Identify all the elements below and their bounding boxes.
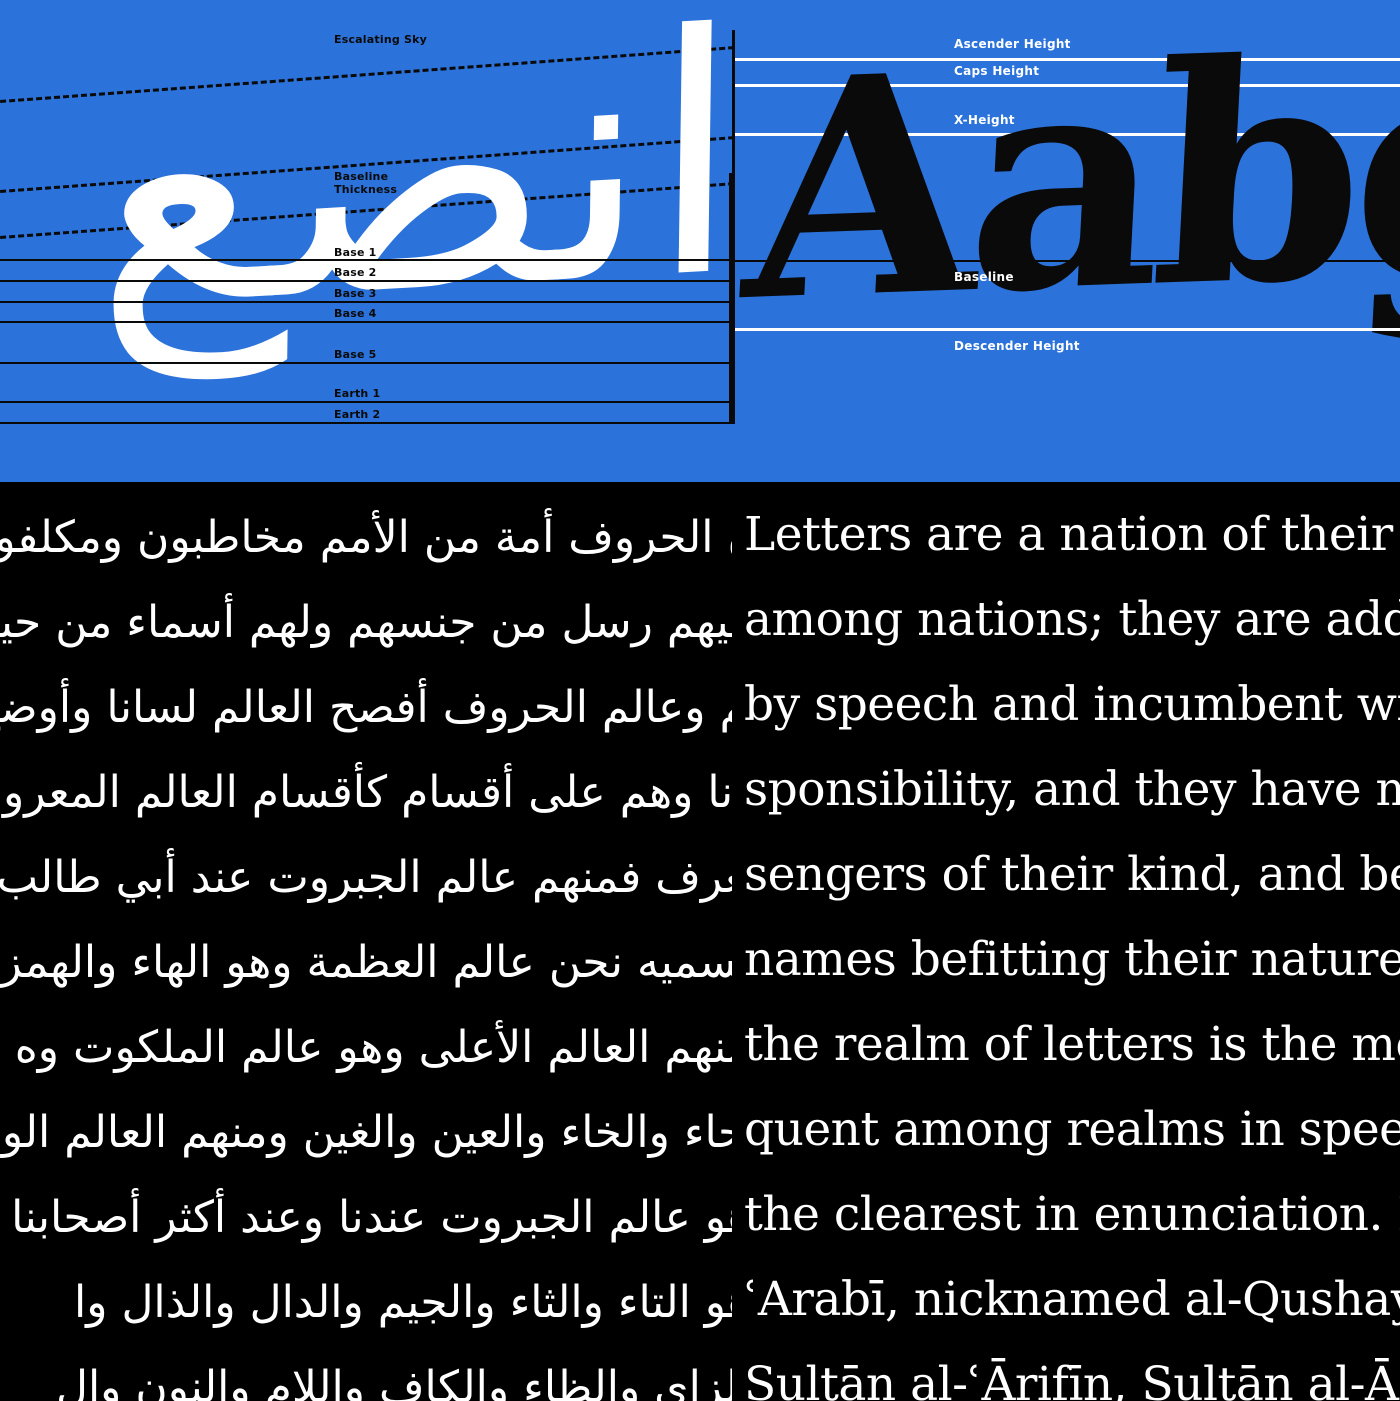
base-rule-5 <box>0 362 732 364</box>
panel-divider <box>732 30 735 424</box>
latin-text-line: sponsibility, and they have me <box>744 762 1400 817</box>
arabic-text-line: وهو عالم الجبروت عندنا وعند أكثر أصحابنا <box>0 1192 732 1243</box>
label-ascender-height: Ascender Height <box>954 37 1071 51</box>
baseline-rule <box>735 260 1400 262</box>
label-base-1: Base 1 <box>334 246 377 259</box>
arabic-text-line: الحاء والخاء والعين والغين ومنهم العالم … <box>0 1107 732 1158</box>
latin-text-line: Sulṭān al-ʿĀrifīn, Sulṭān al-Āri <box>744 1357 1400 1401</box>
label-escalating-sky: Escalating Sky <box>334 33 427 46</box>
base-rule-2 <box>0 280 732 282</box>
base-rule-3 <box>0 301 732 303</box>
label-baseline-thickness-line2: Thickness <box>334 183 397 196</box>
earth-rule-1 <box>0 401 732 403</box>
latin-text-line: among nations; they are addr <box>744 592 1400 647</box>
label-baseline-thickness-line1: Baseline <box>334 170 397 183</box>
earth-rule-2 <box>0 422 732 424</box>
latin-text-line: the clearest in enunciation. Ib <box>744 1187 1400 1242</box>
label-earth-1: Earth 1 <box>334 387 380 400</box>
arabic-text-line: هم وعالم الحروف أفصح العالم لسانا وأوضح <box>0 682 732 733</box>
arabic-text-line: والزاي والظاء والكاف واللام والنون وال <box>0 1362 732 1401</box>
label-descender-height: Descender Height <box>954 339 1080 353</box>
base-rule-4 <box>0 321 732 323</box>
latin-metrics-panel: Aabg Ascender Height Caps Height X-Heigh… <box>732 0 1400 482</box>
latin-text-line: ʿArabī, nicknamed al-Qushayr <box>744 1272 1400 1327</box>
latin-text-line: quent among realms in speech <box>744 1102 1400 1157</box>
latin-text-line: by speech and incumbent with <box>744 677 1400 732</box>
label-caps-height: Caps Height <box>954 64 1039 78</box>
label-baseline: Baseline <box>954 270 1014 284</box>
label-baseline-thickness: Baseline Thickness <box>334 170 397 196</box>
specimen-panel: انصع Escalating Sky Baseline Thickness B… <box>0 0 1400 482</box>
latin-text-line: sengers of their kind, and bea <box>744 847 1400 902</box>
label-earth-2: Earth 2 <box>334 408 380 421</box>
base-rule-1 <box>0 259 732 261</box>
arabic-text-line: وهو التاء والثاء والجيم والدال والذال وا <box>0 1277 732 1328</box>
label-base-3: Base 3 <box>334 287 377 300</box>
label-x-height: X-Height <box>954 113 1015 127</box>
arabic-text-line: ومنهم العالم الأعلى وهو عالم الملكوت وه <box>0 1022 732 1073</box>
arabic-text-line: العرف فمنهم عالم الجبروت عند أبي طالب ا <box>0 852 732 903</box>
typography-specimen-page: انصع Escalating Sky Baseline Thickness B… <box>0 0 1400 1401</box>
latin-text-line: Letters are a nation of their ow <box>744 507 1400 562</box>
arabic-metrics-panel: انصع Escalating Sky Baseline Thickness B… <box>0 0 732 482</box>
arabic-text-line: بيانا وهم على أقسام كأقسام العالم المعرو… <box>0 767 732 818</box>
latin-text-column: Letters are a nation of their ow among n… <box>744 482 1400 1401</box>
arabic-text-line: أن الحروف أمة من الأمم مخاطبون ومكلفون <box>0 512 732 563</box>
arabic-text-line: وفيهم رسل من جنسهم ولهم أسماء من حيث <box>0 597 732 648</box>
latin-text-line: the realm of letters is the mos <box>744 1017 1400 1072</box>
descender-height-rule <box>735 328 1400 331</box>
label-base-4: Base 4 <box>334 307 377 320</box>
specimen-text-block: أن الحروف أمة من الأمم مخاطبون ومكلفون و… <box>0 482 1400 1401</box>
label-base-5: Base 5 <box>334 348 377 361</box>
label-base-2: Base 2 <box>334 266 377 279</box>
arabic-display-word: انصع <box>9 0 732 431</box>
arabic-text-line: ونسميه نحن عالم العظمة وهو الهاء والهمزة <box>0 937 732 988</box>
arabic-text-column: أن الحروف أمة من الأمم مخاطبون ومكلفون و… <box>0 482 732 1401</box>
latin-display-word: Aabg <box>739 13 1400 342</box>
latin-text-line: names befitting their nature. <box>744 932 1400 987</box>
